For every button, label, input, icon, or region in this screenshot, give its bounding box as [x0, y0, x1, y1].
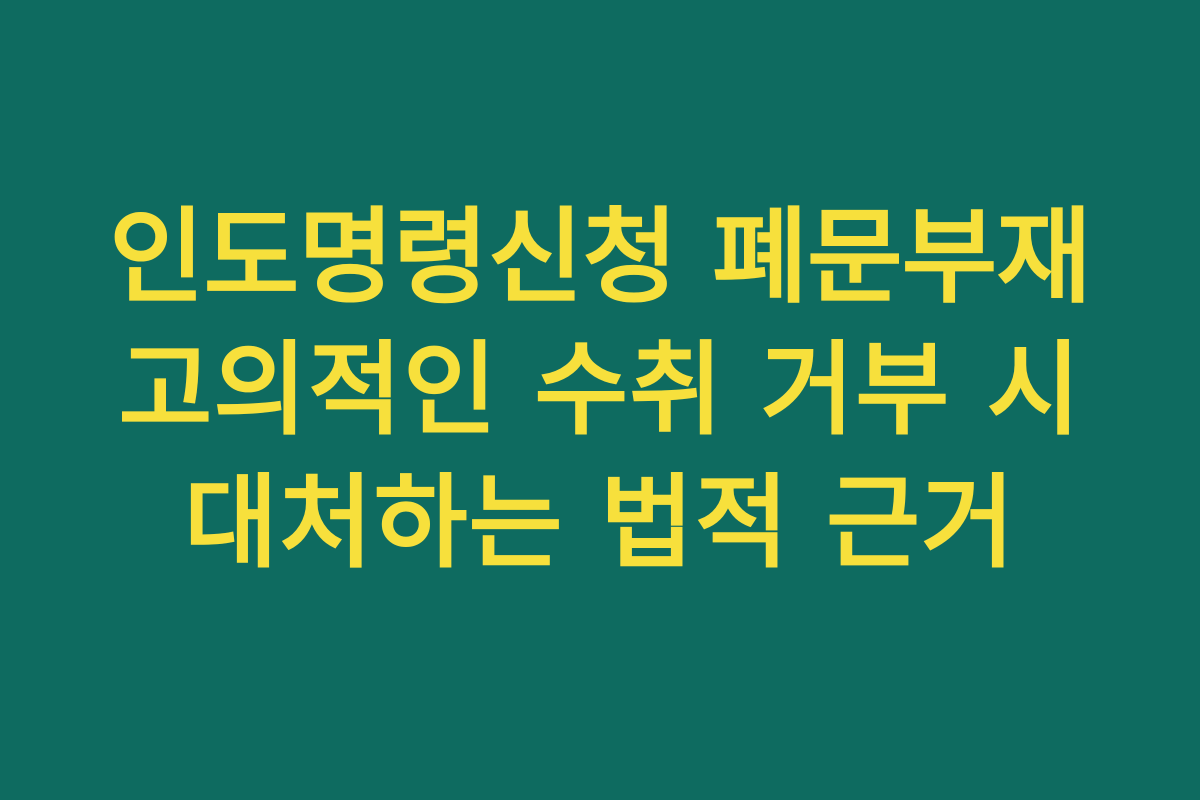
headline-line-2: 고의적인 수취 거부 시 [118, 325, 1081, 458]
headline-line-1: 인도명령신청 폐문부재 [109, 190, 1091, 325]
headline-line-3: 대처하는 법적 근거 [184, 458, 1016, 591]
headline-block: 인도명령신청 폐문부재 고의적인 수취 거부 시 대처하는 법적 근거 [0, 190, 1200, 590]
thumbnail-card: 인도명령신청 폐문부재 고의적인 수취 거부 시 대처하는 법적 근거 [0, 0, 1200, 800]
